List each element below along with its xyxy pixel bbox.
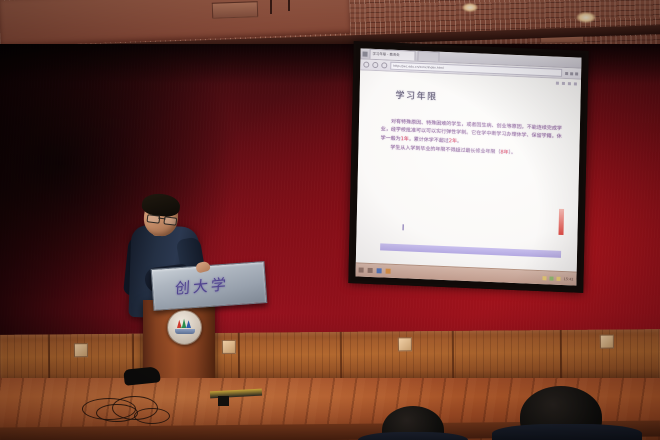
- audience-shoulder-right: [492, 424, 642, 440]
- download-icon[interactable]: [574, 82, 577, 85]
- forward-arrow-icon[interactable]: [372, 62, 378, 68]
- ceiling-downlight-1: [462, 3, 478, 12]
- wainscot-seam: [560, 330, 562, 380]
- text-cursor: [403, 224, 404, 230]
- university-emblem: [167, 310, 202, 345]
- settings-icon[interactable]: [570, 72, 573, 75]
- browser-inactive-tab[interactable]: [417, 51, 439, 62]
- network-icon[interactable]: [543, 276, 547, 280]
- ceiling-downlight-2: [576, 12, 596, 23]
- floor-connector-box: [218, 396, 229, 406]
- lecture-hall-photo: 学习年限 - 教务处 http://jwc.edu.cn/xxnx/index.…: [0, 0, 660, 440]
- taskbar-app-icons: [359, 267, 391, 273]
- wainscot-seam: [340, 332, 342, 382]
- print-icon[interactable]: [568, 82, 571, 85]
- document-toolbar-icons: [556, 82, 577, 86]
- slide-document: 学习年限 对有特殊原因、特殊困难的学生，或者因生病、创业等原因，不能连续完成学业…: [356, 70, 581, 271]
- taskbar-clock: 15:42: [564, 277, 574, 281]
- folder-icon[interactable]: [368, 268, 373, 273]
- wainscot-seam: [238, 333, 240, 383]
- browser-icon[interactable]: [377, 268, 382, 273]
- projection-screen-surface: 学习年限 - 教务处 http://jwc.edu.cn/xxnx/index.…: [355, 48, 581, 285]
- slide-title: 学习年限: [395, 88, 437, 103]
- wainscot-seam: [48, 334, 50, 384]
- emblem-flames: [177, 318, 193, 328]
- back-arrow-icon[interactable]: [363, 62, 369, 68]
- zoom-out-icon[interactable]: [562, 82, 565, 85]
- taskbar-system-tray: 15:42: [543, 276, 574, 281]
- emblem-book: [175, 329, 195, 334]
- ceiling-hanging-wire-1: [270, 0, 272, 14]
- projection-screen: 学习年限 - 教务处 http://jwc.edu.cn/xxnx/index.…: [348, 41, 588, 293]
- wainscot-plaque: [222, 340, 236, 354]
- start-icon[interactable]: [359, 267, 364, 272]
- browser-toolbar-actions: [565, 71, 578, 75]
- wall-wainscot-panels: [0, 329, 660, 385]
- ceiling-vent-1: [212, 1, 259, 19]
- slide-body-text: 对有特殊原因、特殊困难的学生，或者因生病、创业等原因，不能连续完成学业，经学校批…: [380, 117, 562, 160]
- window-close-icon[interactable]: [575, 72, 578, 75]
- horizontal-scrollbar[interactable]: [380, 243, 561, 258]
- coiled-cable: [134, 408, 170, 424]
- wainscot-plaque: [74, 343, 88, 357]
- browser-active-tab[interactable]: 学习年限 - 教务处: [369, 49, 415, 61]
- wainscot-plaque: [398, 337, 412, 351]
- audience-shoulder-left: [358, 432, 468, 440]
- bookmark-icon[interactable]: [565, 71, 568, 74]
- ceiling-hanging-wire-2: [288, 0, 290, 11]
- volume-icon[interactable]: [550, 276, 554, 280]
- reload-icon[interactable]: [381, 62, 387, 68]
- browser-menu-icon[interactable]: [362, 51, 367, 56]
- media-icon[interactable]: [386, 269, 391, 274]
- wainscot-plaque: [600, 335, 614, 349]
- glasses-right-lens: [163, 216, 177, 226]
- scroll-position-marker[interactable]: [558, 209, 564, 235]
- glasses-left-lens: [147, 214, 161, 224]
- zoom-in-icon[interactable]: [556, 82, 559, 85]
- podium-nameplate-text: 创大学: [175, 273, 230, 299]
- wainscot-seam: [452, 331, 454, 381]
- shield-icon[interactable]: [557, 276, 561, 280]
